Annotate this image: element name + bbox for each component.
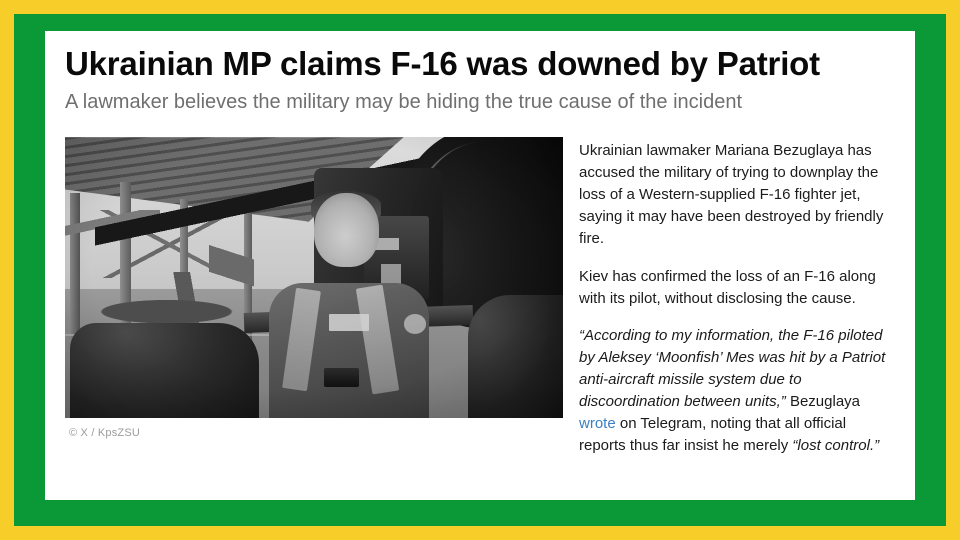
photo-vignette <box>65 137 563 418</box>
pilot-cockpit-photo <box>65 137 563 418</box>
article-text-column: Ukrainian lawmaker Mariana Bezuglaya has… <box>579 137 895 457</box>
article-body: © X / KpsZSU Ukrainian lawmaker Mariana … <box>65 137 895 457</box>
inner-green-border: Ukrainian MP claims F-16 was downed by P… <box>14 14 946 526</box>
outer-yellow-border: Ukrainian MP claims F-16 was downed by P… <box>0 0 960 540</box>
article-subheadline: A lawmaker believes the military may be … <box>65 89 895 115</box>
article-paragraph: Ukrainian lawmaker Mariana Bezuglaya has… <box>579 140 895 250</box>
quote-lost-control: “lost control.” <box>792 437 879 454</box>
article-figure: © X / KpsZSU <box>65 137 563 439</box>
page-title: Ukrainian MP claims F-16 was downed by P… <box>65 45 885 83</box>
article-card: Ukrainian MP claims F-16 was downed by P… <box>45 31 915 500</box>
photo-credit-caption: © X / KpsZSU <box>65 418 563 439</box>
article-quote-paragraph: “According to my information, the F-16 p… <box>579 325 895 457</box>
article-paragraph: Kiev has confirmed the loss of an F-16 a… <box>579 266 895 310</box>
telegram-source-link[interactable]: wrote <box>579 415 616 432</box>
quote-attribution: Bezuglaya <box>786 393 860 410</box>
